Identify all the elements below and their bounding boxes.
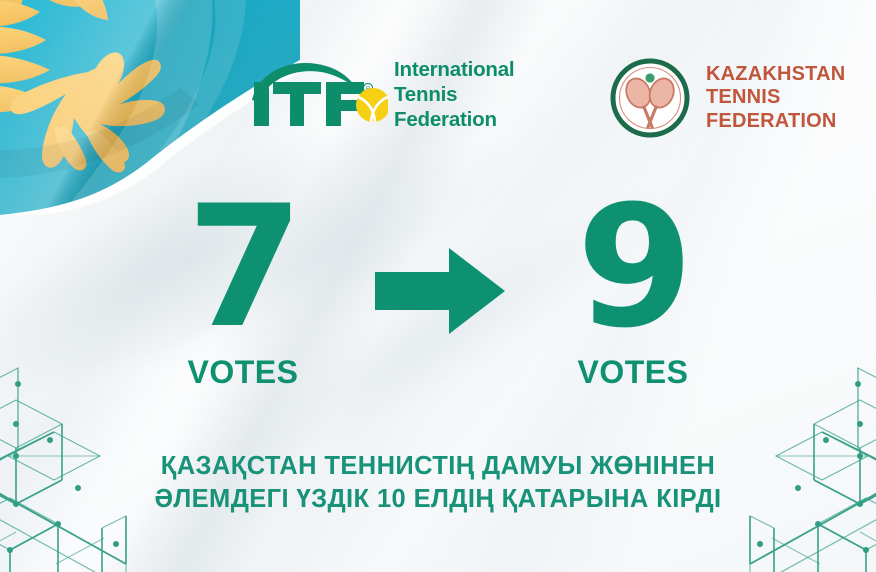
itf-logomark-svg: R bbox=[248, 56, 388, 132]
votes-after-label: VOTES bbox=[528, 354, 738, 391]
ktf-ball-icon bbox=[645, 73, 654, 82]
ktf-wordmark: KAZAKHSTAN TENNIS FEDERATION bbox=[706, 63, 845, 134]
logo-row: R International Tennis Federation bbox=[0, 52, 876, 152]
itf-line-2: Tennis bbox=[394, 82, 514, 107]
votes-after: 9 VOTES bbox=[528, 188, 738, 391]
arrow-right-icon-svg bbox=[375, 248, 505, 334]
ktf-line-1: KAZAKHSTAN bbox=[706, 63, 845, 87]
headline-line-1: ҚАЗАҚСТАН ТЕННИСТІҢ ДАМУЫ ЖӨНІНЕН bbox=[0, 450, 876, 483]
votes-before-label: VOTES bbox=[138, 354, 348, 391]
votes-before-value: 7 bbox=[138, 188, 348, 346]
poster-canvas: R International Tennis Federation bbox=[0, 0, 876, 572]
votes-before: 7 VOTES bbox=[138, 188, 348, 391]
headline-line-2: ӘЛЕМДЕГІ ҮЗДІК 10 ЕЛДІҢ ҚАТАРЫНА КІРДІ bbox=[0, 483, 876, 516]
ktf-logo: KAZAKHSTAN TENNIS FEDERATION bbox=[608, 56, 845, 140]
arrow-right-icon bbox=[375, 248, 505, 334]
itf-wordmark: International Tennis Federation bbox=[394, 57, 514, 132]
itf-line-1: International bbox=[394, 57, 514, 82]
headline: ҚАЗАҚСТАН ТЕННИСТІҢ ДАМУЫ ЖӨНІНЕН ӘЛЕМДЕ… bbox=[0, 450, 876, 516]
votes-after-value: 9 bbox=[528, 188, 738, 346]
ktf-line-2: TENNIS bbox=[706, 86, 845, 110]
itf-logomark: R bbox=[248, 56, 388, 132]
itf-line-3: Federation bbox=[394, 107, 514, 132]
ktf-emblem-icon bbox=[608, 56, 692, 140]
itf-letters-icon bbox=[254, 82, 364, 126]
ktf-line-3: FEDERATION bbox=[706, 110, 845, 134]
itf-logo: R International Tennis Federation bbox=[248, 56, 514, 132]
